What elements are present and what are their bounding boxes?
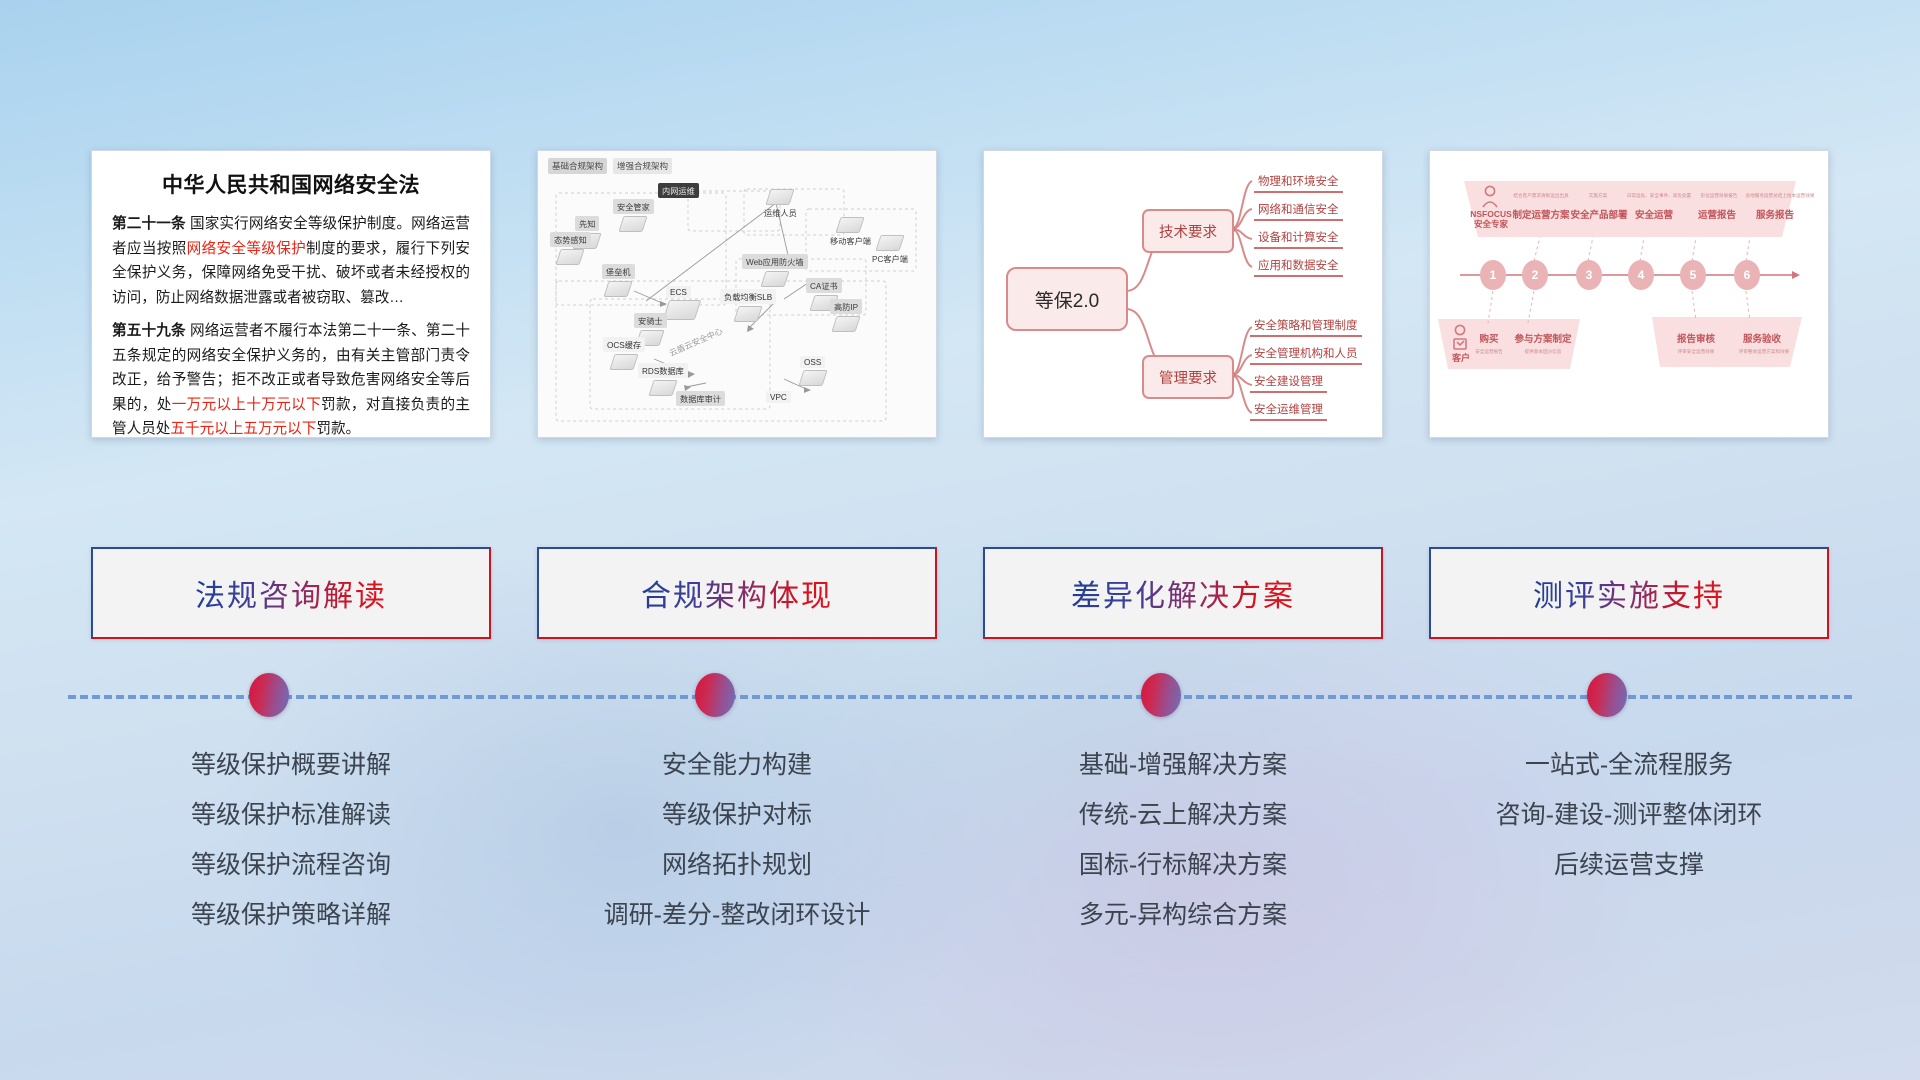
mindmap-canvas: 等保2.0 技术要求 物理和环境安全 网络和通信安全 设备和计算安全 应用和数据… <box>984 151 1382 437</box>
section-items-row: 等级保护概要讲解 等级保护标准解读 等级保护流程咨询 等级保护策略详解 安全能力… <box>0 740 1920 940</box>
process-bottom-title-5: 报告审核 <box>1666 331 1726 345</box>
process-top-title-5: 运营报告 <box>1684 207 1750 221</box>
heading-box-regulation-consulting[interactable]: 法规咨询解读 <box>91 547 491 639</box>
timeline-dot-4[interactable] <box>1587 673 1627 717</box>
heading-label-differentiated-solution: 差异化解决方案 <box>1071 571 1295 615</box>
process-bottom-sub-5: 评审安全运营效果 <box>1662 349 1730 355</box>
process-top-title-6: 服务报告 <box>1742 207 1808 221</box>
process-bottom-title-2: 参与方案制定 <box>1506 331 1580 345</box>
law-article-21: 第二十一条 国家实行网络安全等级保护制度。网络运营者应当按照网络安全等级保护制度… <box>112 212 470 310</box>
heading-label-compliance-architecture: 合规架构体现 <box>641 571 833 615</box>
article-59-highlight-2: 五千元以上五万元以下 <box>170 421 316 437</box>
mindmap-leaf-org-personnel[interactable]: 安全管理机构和人员 <box>1250 345 1362 365</box>
list-item[interactable]: 传统-云上解决方案 <box>1079 790 1287 840</box>
list-item[interactable]: 基础-增强解决方案 <box>1079 740 1287 790</box>
heading-label-assessment-support: 测评实施支持 <box>1533 571 1725 615</box>
list-item[interactable]: 国标-行标解决方案 <box>1079 840 1287 890</box>
process-bottom-sub-1: 安全运营报告 <box>1464 349 1514 355</box>
timeline-dashed-line <box>68 695 1852 699</box>
mindmap-branch-technical[interactable]: 技术要求 <box>1142 209 1234 253</box>
node-anti-ddos-ip: 高防IP <box>830 299 862 332</box>
list-item[interactable]: 咨询-建设-测评整体闭环 <box>1496 790 1763 840</box>
article-59-text-c: 罚款。 <box>316 421 360 437</box>
process-top-title-3: 安全产品部署 <box>1566 207 1632 221</box>
law-article-59: 第五十九条 网络运营者不履行本法第二十一条、第二十五条规定的网络安全保护义务的，… <box>112 319 470 438</box>
card-process-timeline[interactable]: NSFOCUS安全专家 客户 结合客户需求清晰运出出具 制定运营方案 实施方案 … <box>1429 150 1829 438</box>
mindmap-root-node[interactable]: 等保2.0 <box>1006 267 1128 331</box>
list-item[interactable]: 等级保护对标 <box>662 790 812 840</box>
section-headings-row: 法规咨询解读 合规架构体现 差异化解决方案 测评实施支持 <box>0 547 1920 643</box>
process-bottom-sub-2: 提供基本固沙信息 <box>1510 349 1576 355</box>
node-bastion-host: 堡垒机 <box>602 264 635 297</box>
mindmap-leaf-physical-env[interactable]: 物理和环境安全 <box>1254 173 1343 193</box>
process-bottom-title-6: 服务验收 <box>1732 331 1792 345</box>
heading-label-regulation-consulting: 法规咨询解读 <box>195 571 387 615</box>
list-item[interactable]: 多元-异构综合方案 <box>1079 890 1287 940</box>
mindmap-leaf-construction-mgmt[interactable]: 安全建设管理 <box>1250 373 1327 393</box>
node-security-steward: 安全管家 <box>613 199 654 232</box>
process-top-sub-3: 实施方案 <box>1572 193 1624 199</box>
timeline-dot-1[interactable] <box>249 673 289 717</box>
heading-box-differentiated-solution[interactable]: 差异化解决方案 <box>983 547 1383 639</box>
process-top-title-4: 安全运营 <box>1626 207 1682 221</box>
article-59-highlight-1: 一万元以上十万元以下 <box>172 397 321 413</box>
list-item[interactable]: 等级保护策略详解 <box>191 890 391 940</box>
architecture-canvas: 基础合规架构 增强合规架构 <box>538 151 936 437</box>
timeline-dot-2[interactable] <box>695 673 735 717</box>
process-canvas: NSFOCUS安全专家 客户 结合客户需求清晰运出出具 制定运营方案 实施方案 … <box>1430 151 1828 437</box>
mindmap-leaf-device-compute[interactable]: 设备和计算安全 <box>1254 229 1343 249</box>
process-step-marker-3[interactable]: 3 <box>1576 260 1602 290</box>
list-item[interactable]: 一站式-全流程服务 <box>1525 740 1733 790</box>
mindmap-branch-management[interactable]: 管理要求 <box>1142 355 1234 399</box>
items-column-regulation-consulting: 等级保护概要讲解 等级保护标准解读 等级保护流程咨询 等级保护策略详解 <box>91 740 491 940</box>
node-pc-client: PC客户端 <box>868 235 912 266</box>
heading-box-assessment-support[interactable]: 测评实施支持 <box>1429 547 1829 639</box>
heading-box-compliance-architecture[interactable]: 合规架构体现 <box>537 547 937 639</box>
preview-cards-row: 中华人民共和国网络安全法 第二十一条 国家实行网络安全等级保护制度。网络运营者应… <box>0 150 1920 450</box>
node-load-balancer-slb: 负载均衡SLB <box>720 289 776 322</box>
node-ops-staff: 运维人员 <box>760 189 801 220</box>
list-item[interactable]: 后续运营支撑 <box>1554 840 1704 890</box>
node-database-audit: 数据库审计 <box>676 391 725 406</box>
process-step-marker-4[interactable]: 4 <box>1628 260 1654 290</box>
items-column-compliance-architecture: 安全能力构建 等级保护对标 网络拓扑规划 调研-差分-整改闭环设计 <box>537 740 937 940</box>
node-oss: OSS <box>800 356 825 386</box>
article-21-label: 第二十一条 <box>112 216 186 232</box>
process-bottom-sub-6: 评审整体运营方案和效果 <box>1728 349 1800 355</box>
process-top-sub-6: 总地服务运营总结上给本运营效果 <box>1740 193 1820 199</box>
law-body: 中华人民共和国网络安全法 第二十一条 国家实行网络安全等级保护制度。网络运营者应… <box>92 151 490 438</box>
list-item[interactable]: 调研-差分-整改闭环设计 <box>604 890 871 940</box>
process-top-sub-4: 日常运处、安全事件、高危处置 <box>1620 193 1698 199</box>
card-law-text[interactable]: 中华人民共和国网络安全法 第二十一条 国家实行网络安全等级保护制度。网络运营者应… <box>91 150 491 438</box>
slide-canvas: 中华人民共和国网络安全法 第二十一条 国家实行网络安全等级保护制度。网络运营者应… <box>0 0 1920 1080</box>
node-situation-awareness: 态势感知 <box>550 232 591 265</box>
node-ecs: ECS <box>666 286 698 320</box>
node-vpc: VPC <box>766 391 791 403</box>
card-mindmap[interactable]: 等保2.0 技术要求 物理和环境安全 网络和通信安全 设备和计算安全 应用和数据… <box>983 150 1383 438</box>
mindmap-leaf-ops-mgmt[interactable]: 安全运维管理 <box>1250 401 1327 421</box>
items-column-differentiated-solution: 基础-增强解决方案 传统-云上解决方案 国标-行标解决方案 多元-异构综合方案 <box>983 740 1383 940</box>
node-web-application-firewall: Web应用防火墙 <box>742 254 808 287</box>
timeline-connector <box>0 668 1920 724</box>
list-item[interactable]: 等级保护流程咨询 <box>191 840 391 890</box>
article-21-highlight: 网络安全等级保护 <box>187 241 306 257</box>
mindmap-leaf-network-comm[interactable]: 网络和通信安全 <box>1254 201 1343 221</box>
law-title: 中华人民共和国网络安全法 <box>112 169 470 199</box>
list-item[interactable]: 等级保护标准解读 <box>191 790 391 840</box>
node-internal-ops: 内网运维 <box>658 183 699 198</box>
items-column-assessment-support: 一站式-全流程服务 咨询-建设-测评整体闭环 后续运营支撑 <box>1429 740 1829 940</box>
process-step-marker-1[interactable]: 1 <box>1480 260 1506 290</box>
process-step-marker-5[interactable]: 5 <box>1680 260 1706 290</box>
list-item[interactable]: 等级保护概要讲解 <box>191 740 391 790</box>
article-59-label: 第五十九条 <box>112 323 186 339</box>
list-item[interactable]: 安全能力构建 <box>662 740 812 790</box>
card-architecture-diagram[interactable]: 基础合规架构 增强合规架构 <box>537 150 937 438</box>
process-step-marker-6[interactable]: 6 <box>1734 260 1760 290</box>
mindmap-leaf-policy-system[interactable]: 安全策略和管理制度 <box>1250 317 1362 337</box>
process-top-title-2: 制定运营方案 <box>1508 207 1574 221</box>
mindmap-leaf-app-data[interactable]: 应用和数据安全 <box>1254 257 1343 277</box>
process-top-sub-2: 结合客户需求清晰运出出具 <box>1508 193 1574 199</box>
process-step-marker-2[interactable]: 2 <box>1522 260 1548 290</box>
timeline-dot-3[interactable] <box>1141 673 1181 717</box>
list-item[interactable]: 网络拓扑规划 <box>662 840 812 890</box>
